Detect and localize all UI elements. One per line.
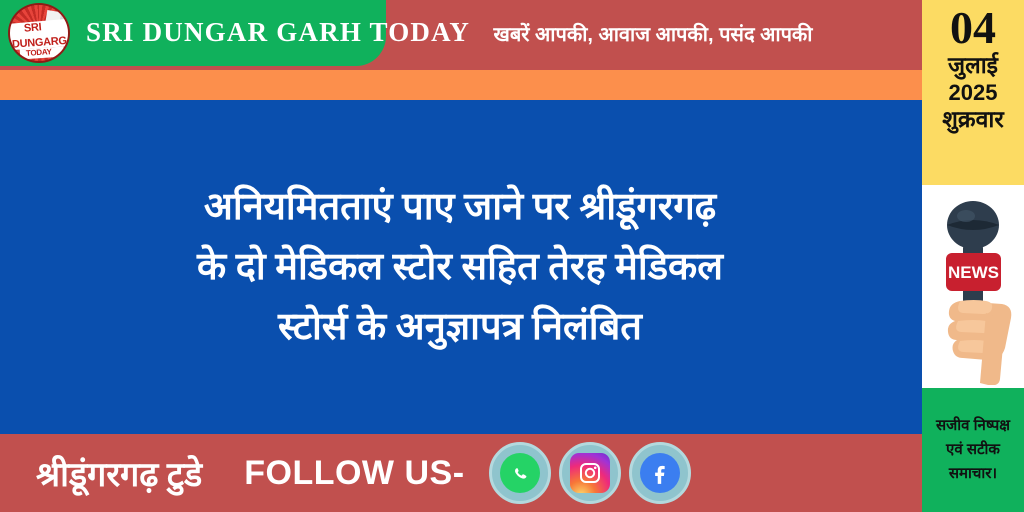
social-link-facebook[interactable] bbox=[629, 442, 691, 504]
rail-strip-red-bottom bbox=[896, 434, 922, 512]
slogan-line-3: समाचार। bbox=[949, 462, 997, 486]
follow-us-label: FOLLOW US- bbox=[244, 454, 464, 493]
mic-news-label: NEWS bbox=[948, 263, 999, 282]
header-tagline: खबरें आपकी, आवाज आपकी, पसंद आपकी bbox=[386, 0, 920, 66]
date-weekday: शुक्रवार bbox=[942, 106, 1003, 134]
microphone-panel: NEWS bbox=[922, 185, 1024, 388]
rail-strip-red-top bbox=[896, 0, 922, 70]
header-bar: SRI DUNGARGARH TODAY SRI DUNGAR GARH TOD… bbox=[0, 0, 920, 70]
hand-holding-microphone-icon: NEWS bbox=[930, 189, 1016, 385]
footer-bar: श्रीडूंगरगढ़ टुडे FOLLOW US- bbox=[0, 434, 920, 512]
orange-divider bbox=[0, 70, 920, 100]
headline-line-1: अनियमितताएं पाए जाने पर श्रीडूंगरगढ़ bbox=[204, 177, 716, 237]
date-day: 04 bbox=[950, 4, 996, 52]
social-link-instagram[interactable] bbox=[559, 442, 621, 504]
instagram-icon bbox=[570, 453, 610, 493]
slogan-line-2: एवं सटीक bbox=[946, 438, 1000, 462]
headline-line-3: स्टोर्स के अनुज्ञापत्र निलंबित bbox=[278, 297, 642, 357]
rail-strip-orange bbox=[896, 70, 922, 100]
news-banner: SRI DUNGARGARH TODAY SRI DUNGAR GARH TOD… bbox=[0, 0, 1024, 512]
date-panel: 04 जुलाई 2025 शुक्रवार bbox=[922, 0, 1024, 185]
brand-tab: SRI DUNGARGARH TODAY SRI DUNGAR GARH TOD… bbox=[0, 0, 386, 66]
slogan-panel: सजीव निष्पक्ष एवं सटीक समाचार। bbox=[922, 388, 1024, 512]
headline-line-2: के दो मेडिकल स्टोर सहित तेरह मेडिकल bbox=[197, 237, 723, 297]
news-logo-badge: SRI DUNGARGARH TODAY bbox=[8, 3, 70, 63]
headline-area: अनियमितताएं पाए जाने पर श्रीडूंगरगढ़ के … bbox=[0, 100, 920, 434]
slogan-line-1: सजीव निष्पक्ष bbox=[936, 414, 1010, 438]
footer-brand-name: श्रीडूंगरगढ़ टुडे bbox=[36, 450, 202, 496]
whatsapp-icon bbox=[500, 453, 540, 493]
social-link-whatsapp[interactable] bbox=[489, 442, 551, 504]
rail-strip-blue bbox=[896, 100, 922, 434]
facebook-icon bbox=[640, 453, 680, 493]
logo-text-line1: SRI bbox=[24, 22, 42, 34]
social-links bbox=[489, 442, 691, 504]
date-month: जुलाई bbox=[948, 52, 998, 80]
date-year: 2025 bbox=[949, 80, 998, 106]
